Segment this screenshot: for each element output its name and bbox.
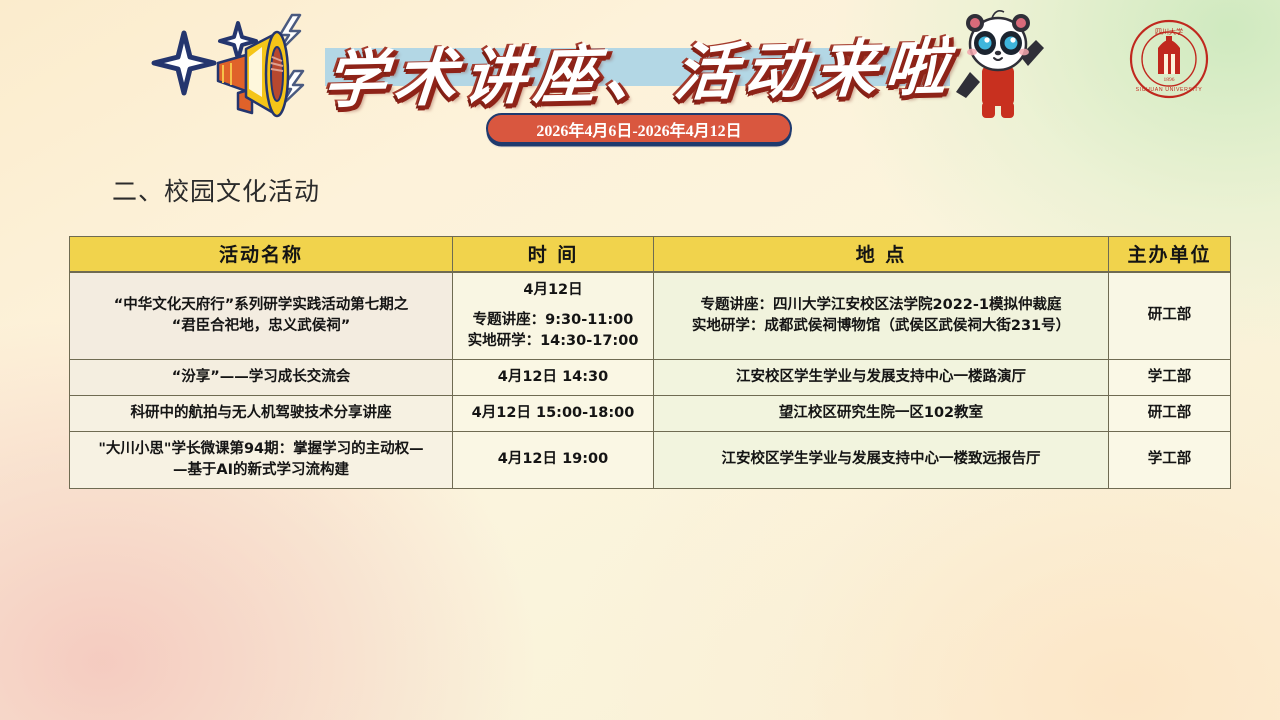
column-header-place: 地 点 <box>654 237 1109 272</box>
section-heading: 二、校园文化活动 <box>112 172 320 208</box>
time-line: 4月12日 <box>459 280 647 301</box>
sichuan-university-logo: 四川大学 1896 SICHUAN UNIVERSITY <box>1128 18 1210 100</box>
cell-time: 4月12日 15:00-18:00 <box>453 395 654 431</box>
logo-year: 1896 <box>1164 77 1175 83</box>
cell-time: 4月12日 19:00 <box>453 431 654 488</box>
cell-place: 望江校区研究生院一区102教室 <box>654 395 1109 431</box>
time-line: 专题讲座：9:30-11:00 <box>459 310 647 331</box>
panda-mascot-illustration <box>948 6 1048 121</box>
megaphone-illustration <box>150 5 325 120</box>
date-range-badge: 2026年4月6日-2026年4月12日 <box>486 113 792 144</box>
cell-place: 江安校区学生学业与发展支持中心一楼路演厅 <box>654 359 1109 395</box>
header-banner: 学术讲座、活动来啦 2026年4月6日-2026年4月12日 <box>0 0 1280 165</box>
cell-organizer: 学工部 <box>1109 359 1231 395</box>
column-header-organizer: 主办单位 <box>1109 237 1231 272</box>
cell-organizer: 学工部 <box>1109 431 1231 488</box>
cell-place: 专题讲座：四川大学江安校区法学院2022-1模拟仲裁庭 实地研学：成都武侯祠博物… <box>654 272 1109 360</box>
activity-name-line: “中华文化天府行”系列研学实践活动第七期之 <box>76 295 446 316</box>
cell-activity-name: "大川小思"学长微课第94期：掌握学习的主动权— —基于AI的新式学习流构建 <box>70 431 453 488</box>
logo-text-en: SICHUAN UNIVERSITY <box>1136 87 1203 93</box>
activity-name-line: "大川小思"学长微课第94期：掌握学习的主动权— <box>76 439 446 460</box>
time-spacer <box>459 301 647 310</box>
page-title: 学术讲座、活动来啦 <box>326 16 955 121</box>
slide-page: 学术讲座、活动来啦 2026年4月6日-2026年4月12日 <box>0 0 1280 720</box>
cell-organizer: 研工部 <box>1109 272 1231 360</box>
column-header-activity-name: 活动名称 <box>70 237 453 272</box>
panda-icon <box>956 11 1044 118</box>
column-header-time: 时 间 <box>453 237 654 272</box>
cell-activity-name: “中华文化天府行”系列研学实践活动第七期之 “君臣合祀地，忠义武侯祠” <box>70 272 453 360</box>
activity-schedule-table: 活动名称 时 间 地 点 主办单位 “中华文化天府行”系列研学实践活动第七期之 … <box>69 236 1231 489</box>
place-line: 实地研学：成都武侯祠博物馆（武侯区武侯祠大街231号） <box>660 316 1102 337</box>
table-row: “中华文化天府行”系列研学实践活动第七期之 “君臣合祀地，忠义武侯祠” 4月12… <box>70 272 1231 360</box>
cell-time: 4月12日 14:30 <box>453 359 654 395</box>
cell-activity-name: “汾享”——学习成长交流会 <box>70 359 453 395</box>
logo-text-cn: 四川大学 <box>1155 27 1183 36</box>
table-row: “汾享”——学习成长交流会 4月12日 14:30 江安校区学生学业与发展支持中… <box>70 359 1231 395</box>
table-header-row: 活动名称 时 间 地 点 主办单位 <box>70 237 1231 272</box>
sparkle-icon-large <box>154 33 214 93</box>
table-row: "大川小思"学长微课第94期：掌握学习的主动权— —基于AI的新式学习流构建 4… <box>70 431 1231 488</box>
place-line: 专题讲座：四川大学江安校区法学院2022-1模拟仲裁庭 <box>660 295 1102 316</box>
cell-activity-name: 科研中的航拍与无人机驾驶技术分享讲座 <box>70 395 453 431</box>
activity-name-line: “君臣合祀地，忠义武侯祠” <box>76 316 446 337</box>
cell-time: 4月12日 专题讲座：9:30-11:00 实地研学：14:30-17:00 <box>453 272 654 360</box>
cell-place: 江安校区学生学业与发展支持中心一楼致远报告厅 <box>654 431 1109 488</box>
time-line: 实地研学：14:30-17:00 <box>459 331 647 352</box>
cell-organizer: 研工部 <box>1109 395 1231 431</box>
activity-name-line: —基于AI的新式学习流构建 <box>76 460 446 481</box>
table-row: 科研中的航拍与无人机驾驶技术分享讲座 4月12日 15:00-18:00 望江校… <box>70 395 1231 431</box>
table-body: “中华文化天府行”系列研学实践活动第七期之 “君臣合祀地，忠义武侯祠” 4月12… <box>70 272 1231 489</box>
